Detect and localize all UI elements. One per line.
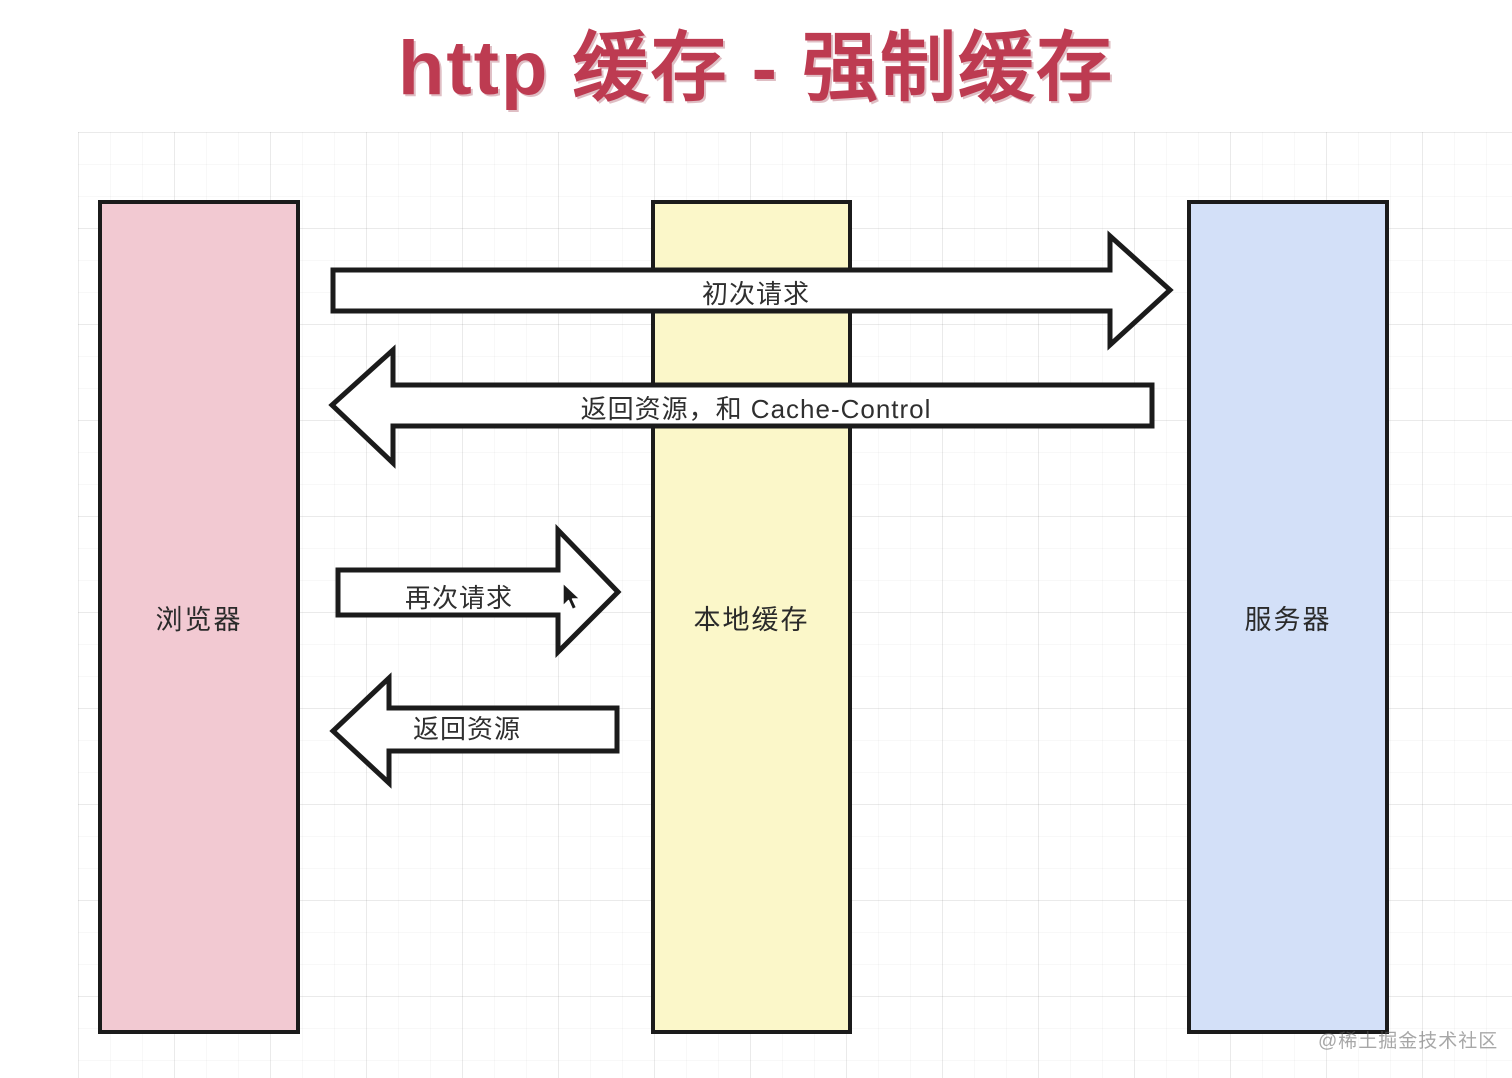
arrow-label-return-resource: 返回资源 bbox=[352, 709, 582, 746]
lifeline-server-label: 服务器 bbox=[1245, 598, 1332, 637]
arrow-label-first-request: 初次请求 bbox=[0, 274, 1512, 311]
diagram-canvas: http 缓存 - 强制缓存 浏览器 本地缓存 服务器 初次请求 返回资源，和 … bbox=[0, 0, 1512, 1078]
mouse-pointer-icon bbox=[561, 582, 583, 614]
arrow-label-return-with-cache-control: 返回资源，和 Cache-Control bbox=[0, 389, 1512, 426]
arrow-label-again-request: 再次请求 bbox=[344, 578, 574, 615]
watermark: @稀土掘金技术社区 bbox=[1318, 1026, 1498, 1053]
lifeline-local-cache-label: 本地缓存 bbox=[694, 598, 810, 637]
page-title: http 缓存 - 强制缓存 bbox=[0, 28, 1512, 110]
lifeline-server: 服务器 bbox=[1187, 200, 1389, 1034]
lifeline-browser: 浏览器 bbox=[98, 200, 300, 1034]
lifeline-local-cache: 本地缓存 bbox=[651, 200, 852, 1034]
lifeline-browser-label: 浏览器 bbox=[156, 598, 243, 637]
